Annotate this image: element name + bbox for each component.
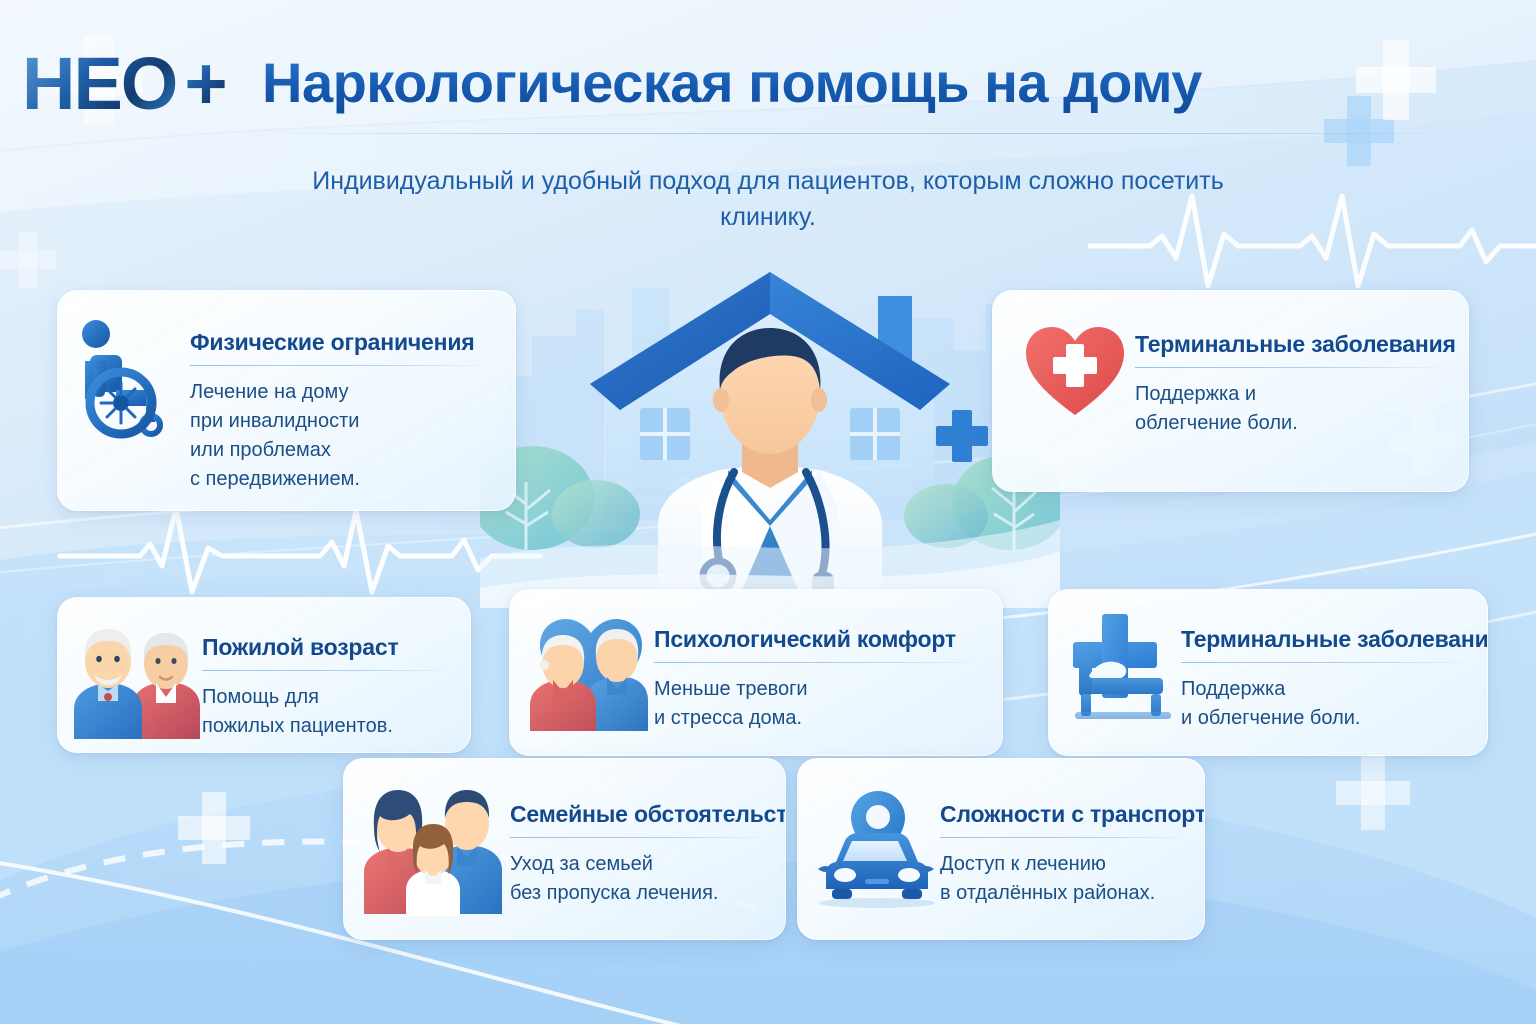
doctor-at-home-illustration — [480, 258, 1060, 608]
two-people-heart-icon — [528, 612, 654, 734]
card-psychological-comfort[interactable]: Психологический комфорт Меньше тревоги и… — [509, 589, 1003, 756]
elderly-couple-icon — [72, 620, 202, 742]
card-title: Сложности с транспортом — [940, 801, 1190, 828]
card-divider — [1181, 662, 1473, 663]
family-icon — [360, 779, 510, 919]
card-description: Поддержка и облегчение боли. — [1135, 380, 1448, 438]
infographic-canvas: НЕО + Наркологическая помощь на дому Инд… — [0, 0, 1536, 1024]
brand-logo[interactable]: НЕО + — [22, 42, 226, 126]
card-divider — [654, 662, 984, 663]
card-title: Физические ограничения — [190, 329, 495, 356]
page-title: Наркологическая помощь на дому — [262, 50, 1202, 115]
card-transport-difficulties[interactable]: Сложности с транспортом Доступ к лечению… — [797, 758, 1205, 940]
card-title: Психологический комфорт — [654, 626, 984, 653]
car-location-pin-icon — [812, 781, 940, 917]
card-divider — [190, 365, 495, 366]
card-description: Меньше тревоги и стресса дома. — [654, 675, 984, 733]
title-divider — [262, 133, 1472, 134]
wheelchair-icon — [78, 315, 190, 445]
card-terminal-illness-heart[interactable]: Терминальные заболевания Поддержка и обл… — [992, 290, 1469, 492]
card-description: Поддержка и облегчение боли. — [1181, 675, 1473, 733]
card-divider — [202, 670, 452, 671]
card-divider — [940, 837, 1190, 838]
ecg-line-middle — [60, 508, 540, 592]
card-title: Пожилой возраст — [202, 634, 452, 661]
hospital-bed-cross-icon — [1065, 610, 1181, 730]
logo-wordmark: НЕО — [22, 47, 176, 121]
card-divider — [510, 837, 769, 838]
card-title: Семейные обстоятельства — [510, 801, 769, 828]
card-divider — [1135, 367, 1448, 368]
card-title: Терминальные заболевания — [1181, 626, 1473, 653]
card-elderly-age[interactable]: Пожилой возраст Помощь для пожилых пацие… — [57, 597, 471, 753]
decorative-cross-icon — [178, 792, 250, 864]
card-terminal-illness-bed[interactable]: Терминальные заболевания Поддержка и обл… — [1048, 589, 1488, 756]
page-subtitle: Индивидуальный и удобный подход для паци… — [268, 164, 1268, 235]
card-title: Терминальные заболевания — [1135, 331, 1448, 358]
decorative-cross-icon — [1336, 756, 1410, 830]
heart-cross-icon — [1015, 313, 1135, 425]
header: НЕО + Наркологическая помощь на дому Инд… — [0, 0, 1536, 250]
card-family-circumstances[interactable]: Семейные обстоятельства Уход за семьей б… — [343, 758, 786, 940]
card-description: Лечение на дому при инвалидности или про… — [190, 378, 495, 494]
card-description: Доступ к лечению в отдалённых районах. — [940, 850, 1190, 908]
card-physical-limitations[interactable]: Физические ограничения Лечение на дому п… — [57, 290, 516, 511]
card-description: Уход за семьей без пропуска лечения. — [510, 850, 769, 908]
hero-svg — [480, 258, 1060, 608]
card-description: Помощь для пожилых пациентов. — [202, 683, 452, 741]
logo-plus-icon: + — [184, 47, 225, 121]
